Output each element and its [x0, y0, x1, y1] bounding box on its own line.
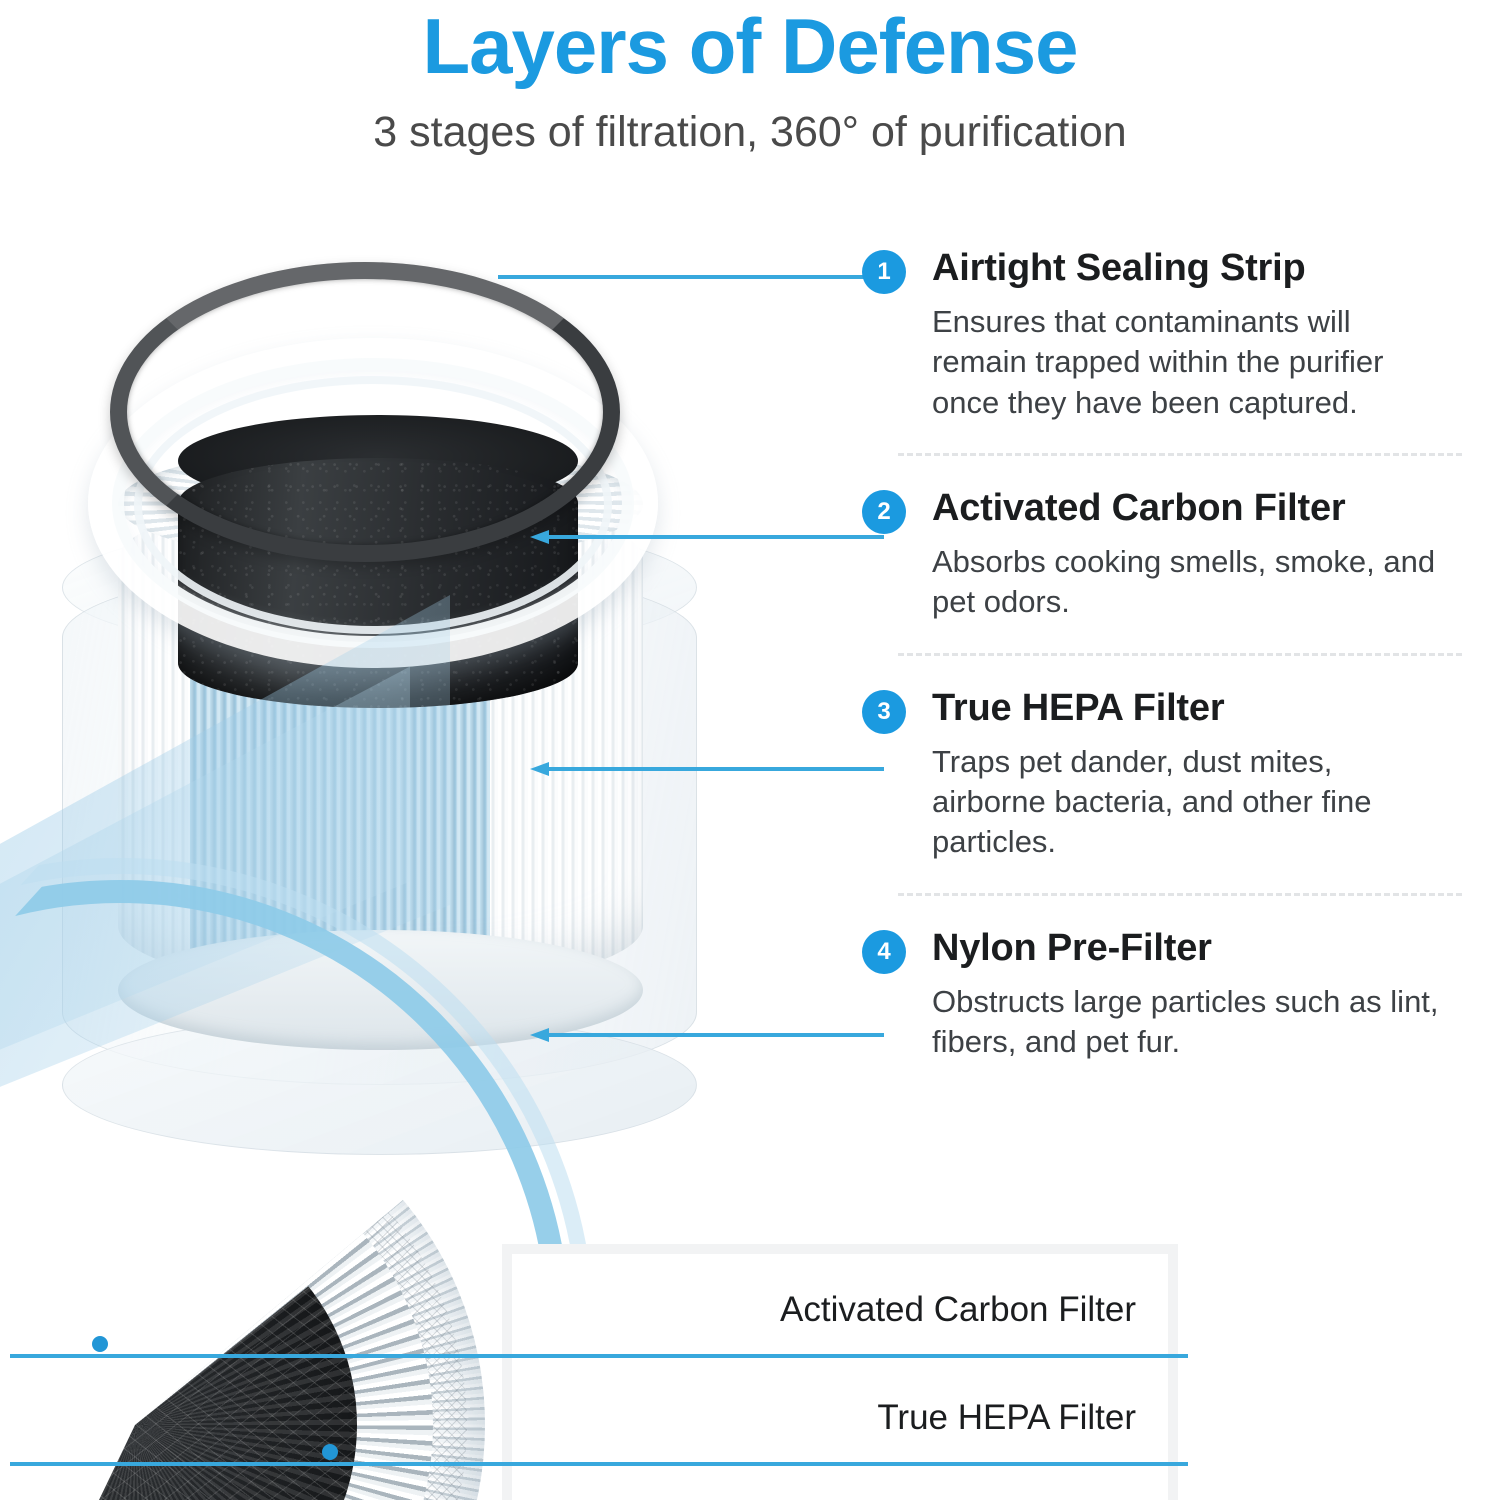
detail-rule-true-hepa	[10, 1462, 1188, 1466]
callout-description-4: Obstructs large particles such as lint, …	[932, 982, 1452, 1063]
callout-title-1: Airtight Sealing Strip	[932, 246, 1462, 290]
cutaway-carbon-core	[0, 1203, 357, 1500]
callout-description-2: Absorbs cooking smells, smoke, and pet o…	[932, 542, 1452, 623]
page-title: Layers of Defense	[0, 6, 1500, 88]
callout-item-4: 4 Nylon Pre-Filter Obstructs large parti…	[862, 926, 1462, 1063]
detail-anchor-dot-hepa	[322, 1444, 338, 1460]
detail-label-true-hepa: True HEPA Filter	[877, 1398, 1136, 1438]
callout-badge-3: 3	[862, 690, 906, 734]
sealing-oring-highlight	[110, 262, 620, 562]
callout-description-3: Traps pet dander, dust mites, airborne b…	[932, 742, 1452, 863]
detail-label-activated-carbon: Activated Carbon Filter	[780, 1290, 1136, 1330]
page-subtitle: 3 stages of filtration, 360° of purifica…	[0, 108, 1500, 157]
callout-title-3: True HEPA Filter	[932, 686, 1462, 730]
callout-title-4: Nylon Pre-Filter	[932, 926, 1462, 970]
callout-badge-2: 2	[862, 490, 906, 534]
callout-description-1: Ensures that contaminants will remain tr…	[932, 302, 1452, 423]
callout-item-2: 2 Activated Carbon Filter Absorbs cookin…	[862, 486, 1462, 623]
callout-badge-4: 4	[862, 930, 906, 974]
filter-cutaway-detail	[0, 1075, 485, 1500]
detail-anchor-dot-carbon	[92, 1336, 108, 1352]
callout-separator-2	[898, 653, 1462, 656]
callout-badge-1: 1	[862, 250, 906, 294]
detail-rule-activated-carbon	[10, 1354, 1188, 1358]
infographic-root: Layers of Defense 3 stages of filtration…	[0, 0, 1500, 1500]
callout-separator-3	[898, 893, 1462, 896]
callout-item-1: 1 Airtight Sealing Strip Ensures that co…	[862, 246, 1462, 423]
callout-item-3: 3 True HEPA Filter Traps pet dander, dus…	[862, 686, 1462, 863]
callout-separator-1	[898, 453, 1462, 456]
callout-title-2: Activated Carbon Filter	[932, 486, 1462, 530]
detail-callout-panel: Activated Carbon Filter True HEPA Filter	[502, 1244, 1178, 1500]
callout-list: 1 Airtight Sealing Strip Ensures that co…	[862, 246, 1462, 1062]
